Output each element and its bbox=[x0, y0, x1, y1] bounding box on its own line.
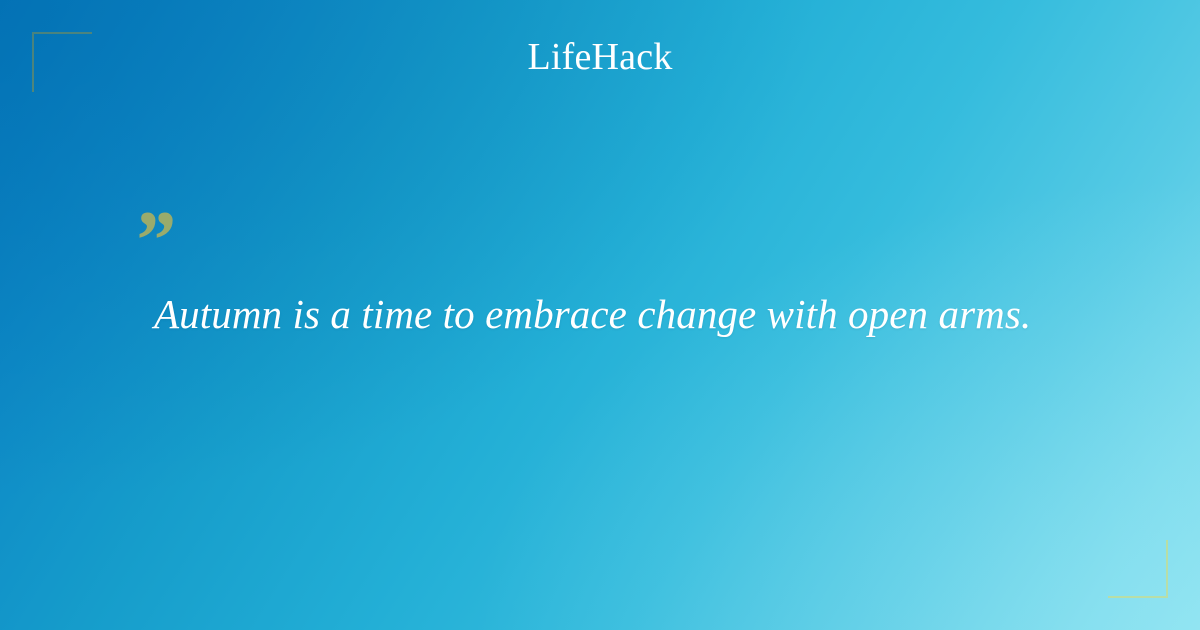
corner-bracket-bottom-right-icon bbox=[1108, 540, 1168, 598]
quotation-mark-icon: ” bbox=[132, 218, 1090, 266]
quote-text: Autumn is a time to embrace change with … bbox=[154, 288, 1090, 340]
quote-card: LifeHack ” Autumn is a time to embrace c… bbox=[0, 0, 1200, 630]
brand-header: LifeHack bbox=[0, 38, 1200, 76]
brand-logo-text: LifeHack bbox=[527, 38, 672, 76]
quote-block: ” Autumn is a time to embrace change wit… bbox=[130, 218, 1090, 340]
